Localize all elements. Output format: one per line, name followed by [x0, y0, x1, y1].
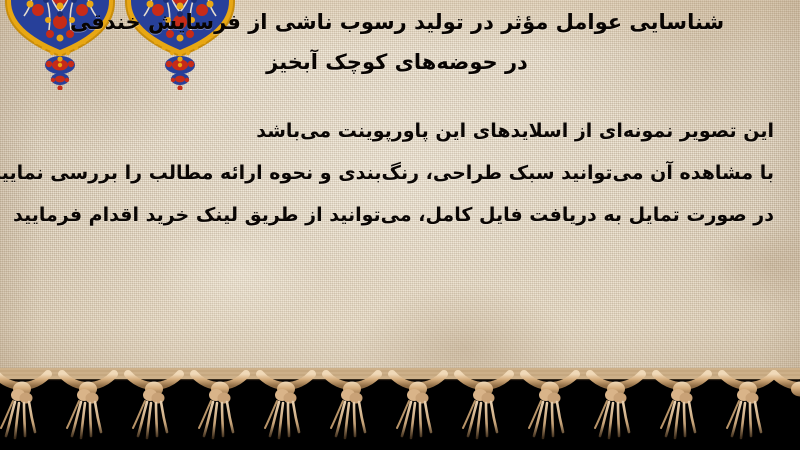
body-line-2: با مشاهده آن می‌توانید سبک طراحی، رنگ‌بن… [34, 152, 774, 194]
body-line-1: این تصویر نمونه‌ای از اسلایدهای این پاور… [34, 110, 774, 152]
presentation-slide: شناسایی عوامل مؤثر در تولید رسوب ناشی از… [0, 0, 800, 450]
title-line-2: در حوضه‌های کوچک آبخیز [0, 42, 794, 82]
slide-body: این تصویر نمونه‌ای از اسلایدهای این پاور… [34, 110, 800, 236]
body-line-3: در صورت تمایل به دریافت فایل کامل، می‌تو… [34, 194, 774, 236]
carpet-fringe-band [0, 368, 800, 450]
title-line-1: شناسایی عوامل مؤثر در تولید رسوب ناشی از… [0, 2, 794, 42]
slide-title: شناسایی عوامل مؤثر در تولید رسوب ناشی از… [0, 2, 800, 82]
carpet-fringe [0, 368, 800, 450]
